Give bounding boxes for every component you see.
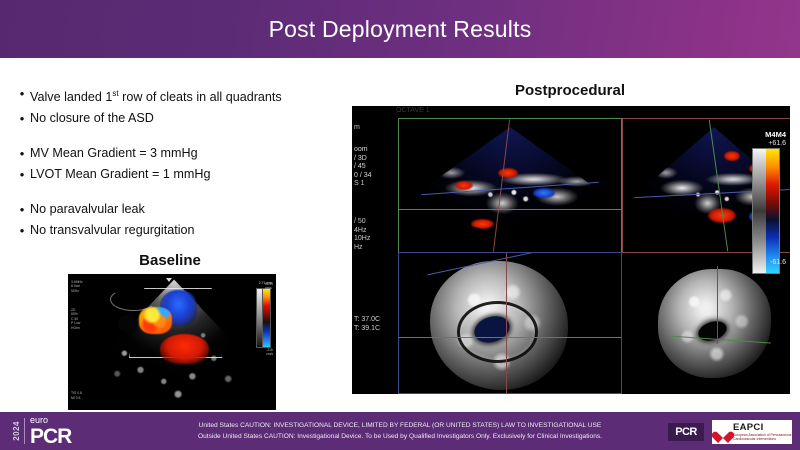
page-title: Post Deployment Results bbox=[269, 16, 532, 43]
bullet-icon: • bbox=[14, 221, 30, 240]
postprocedural-label: Postprocedural bbox=[430, 82, 710, 99]
eapci-logo-subtitle: European Association of Percutaneous Car… bbox=[733, 434, 792, 441]
overlay-safety-indices: TIS 0.8 MI 0.5 bbox=[71, 391, 82, 400]
tissue-texture bbox=[412, 127, 607, 236]
logo-year: 2024 bbox=[12, 421, 21, 441]
eapci-logo: EAPCI European Association of Percutaneo… bbox=[712, 420, 792, 444]
logo-pcr-text: PCR bbox=[30, 426, 71, 447]
colorbar-grayscale bbox=[753, 149, 766, 273]
caution-line-2: Outside United States CAUTION: Investiga… bbox=[198, 431, 602, 442]
overlay-preset: S 1 bbox=[354, 180, 365, 189]
caution-line-1: United States CAUTION: INVESTIGATIONAL D… bbox=[199, 420, 602, 431]
overlay-colorbar-bottom-value: -216 cm/s bbox=[266, 348, 273, 357]
bullet-icon: • bbox=[14, 165, 30, 184]
mpr-panel-top-left bbox=[398, 118, 622, 253]
europcr-logo: 2024 euro PCR bbox=[12, 415, 112, 447]
colorbar-title: M4M4 bbox=[752, 130, 786, 139]
bullet-icon: • bbox=[14, 144, 30, 163]
list-item: • No transvalvular regurgitation bbox=[14, 221, 354, 240]
mpr-plane-line-green bbox=[399, 209, 621, 210]
mpr-plane-line-green bbox=[399, 337, 621, 338]
doppler-colorbar-group: M4M4 +61.6 bbox=[752, 130, 786, 274]
postprocedural-echo-image: M4M4 +61.6 -61.6 OCTAVE 1 m oom / 3D / 4… bbox=[352, 106, 790, 394]
doppler-flow-blue bbox=[533, 188, 554, 198]
bullet-text: Valve landed 1st row of cleats in all qu… bbox=[30, 84, 282, 107]
colorbar-velocity bbox=[766, 149, 779, 273]
caution-text-block: United States CAUTION: INVESTIGATIONAL D… bbox=[150, 412, 650, 450]
mpr-panel-bottom-left bbox=[398, 252, 622, 394]
pcr-logo-right: PCR bbox=[668, 423, 704, 441]
bullet-icon: • bbox=[14, 109, 30, 128]
cardiac-chamber bbox=[118, 315, 137, 333]
bullet-text: No closure of the ASD bbox=[30, 109, 154, 128]
mpr-plane-line-red bbox=[717, 266, 718, 344]
doppler-jet-red bbox=[160, 334, 210, 364]
list-item: • Valve landed 1st row of cleats in all … bbox=[14, 84, 354, 107]
doppler-flow-red bbox=[724, 151, 740, 161]
overlay-temperature: T: 37.0C T: 39.1C bbox=[354, 316, 380, 333]
presentation-slide: Post Deployment Results • Valve landed 1… bbox=[0, 0, 800, 450]
colorbar-top-value: +61.6 bbox=[752, 139, 786, 148]
slide-footer: 2024 euro PCR United States CAUTION: INV… bbox=[0, 412, 800, 450]
pcr-logo-right-text: PCR bbox=[675, 426, 696, 438]
logo-divider bbox=[24, 418, 25, 444]
slide-title-bar: Post Deployment Results bbox=[0, 0, 800, 58]
mpr-plane-line-red bbox=[506, 253, 507, 393]
findings-bullet-list: • Valve landed 1st row of cleats in all … bbox=[14, 84, 354, 242]
colorbar-bottom-value: -61.6 bbox=[770, 258, 786, 267]
heart-icon bbox=[716, 426, 730, 439]
overlay-zoom-3d-settings: oom / 3D / 45 0 / 34 bbox=[354, 146, 372, 180]
bullet-icon: • bbox=[14, 84, 30, 103]
overlay-depth-unit: m bbox=[354, 124, 360, 133]
bullet-text: LVOT Mean Gradient = 1 mmHg bbox=[30, 165, 210, 184]
baseline-label: Baseline bbox=[70, 252, 270, 269]
list-item: • LVOT Mean Gradient = 1 mmHg bbox=[14, 165, 354, 184]
ultrasound-sector bbox=[412, 127, 607, 236]
overlay-frequency-settings: / 50 4Hz 10Hz Hz bbox=[354, 218, 370, 252]
logo-wordmark: euro PCR bbox=[30, 416, 71, 447]
baseline-echo-image: 3.6MHz 8.0cm 50Hz 2D 65% C 50 P Low HGen… bbox=[68, 274, 276, 410]
logo-euro-text: euro bbox=[30, 416, 71, 425]
list-item: • No paravalvular leak bbox=[14, 200, 354, 219]
doppler-colorbar bbox=[752, 148, 780, 274]
probe-marker-icon bbox=[166, 278, 172, 282]
overlay-colorbar-top-value: 64.99 cm/s bbox=[265, 282, 273, 291]
bullet-icon: • bbox=[14, 200, 30, 219]
overlay-2d-settings: 2D 65% C 50 P Low HGen bbox=[71, 308, 80, 330]
list-item: • MV Mean Gradient = 3 mmHg bbox=[14, 144, 354, 163]
overlay-scanner-settings-top: 3.6MHz 8.0cm 50Hz bbox=[71, 280, 83, 293]
doppler-jet-mosaic bbox=[139, 307, 172, 334]
eapci-wordmark: EAPCI European Association of Percutaneo… bbox=[733, 423, 792, 441]
bullet-text: No paravalvular leak bbox=[30, 200, 145, 219]
bullet-text: No transvalvular regurgitation bbox=[30, 221, 195, 240]
overlay-system-banner: OCTAVE 1 bbox=[396, 107, 430, 116]
eapci-logo-text: EAPCI bbox=[733, 423, 792, 433]
list-item: • No closure of the ASD bbox=[14, 109, 354, 128]
bullet-text: MV Mean Gradient = 3 mmHg bbox=[30, 144, 198, 163]
doppler-colorbar bbox=[262, 288, 271, 348]
